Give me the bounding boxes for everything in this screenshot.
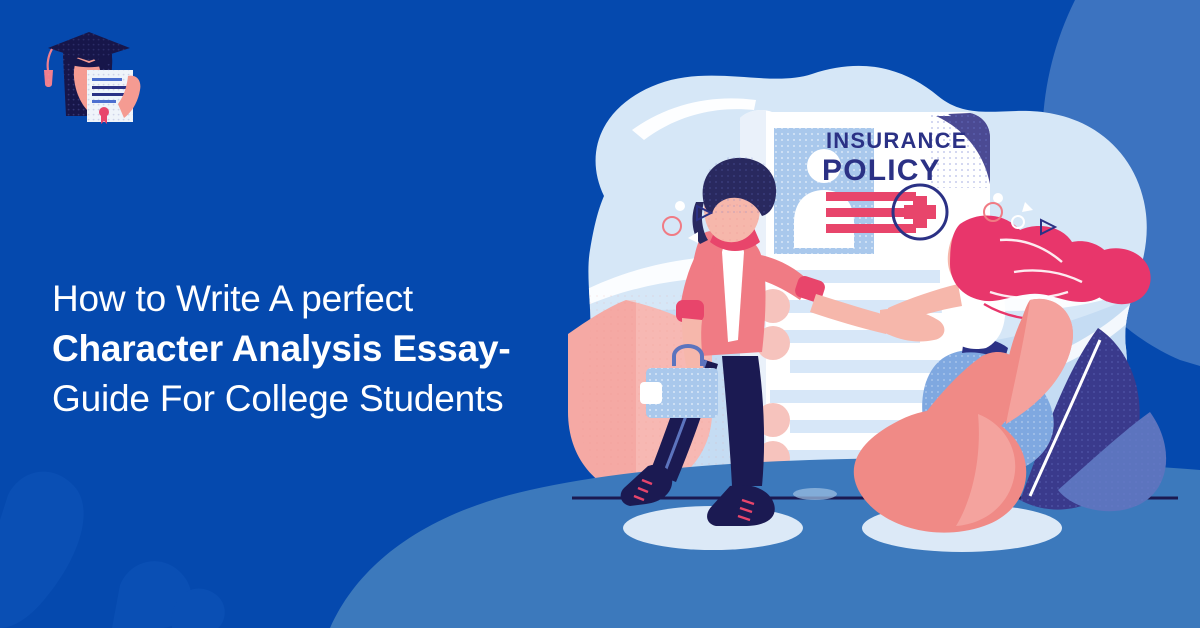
headline-line-1: How to Write A perfect bbox=[52, 278, 413, 319]
small-shadow bbox=[793, 488, 837, 500]
graduate-with-diploma-logo[interactable] bbox=[32, 28, 142, 128]
document-title-insurance: INSURANCE bbox=[826, 128, 968, 153]
page-title: How to Write A perfect Character Analysi… bbox=[52, 274, 562, 424]
document-rule bbox=[826, 208, 916, 217]
document-text-line bbox=[790, 360, 940, 373]
headline-emphasis: Character Analysis Essay bbox=[52, 328, 498, 369]
briefcase-latch bbox=[640, 382, 662, 404]
white-dot bbox=[675, 201, 685, 211]
banner-root: INSURANCE POLICY bbox=[0, 0, 1200, 628]
logo-cap-tassel bbox=[44, 49, 53, 87]
document-title-policy: POLICY bbox=[822, 154, 941, 187]
white-dot bbox=[993, 193, 1003, 203]
headline-dash: - bbox=[498, 328, 510, 369]
man-cuff-left bbox=[676, 300, 704, 322]
headline-line-3: Guide For College Students bbox=[52, 378, 503, 419]
